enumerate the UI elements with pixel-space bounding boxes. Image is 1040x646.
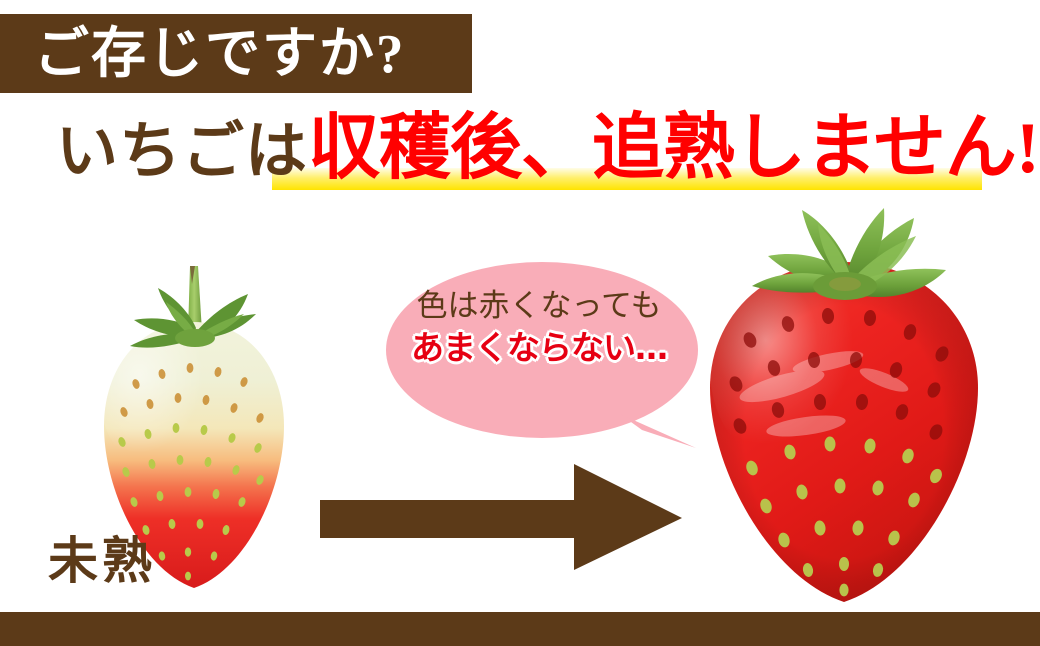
right-arrow-icon	[318, 462, 684, 572]
header-banner: ご存じですか?	[0, 14, 472, 93]
speech-bubble-line-1: 色は赤くなっても	[384, 288, 694, 324]
header-banner-label: ご存じですか?	[34, 26, 406, 81]
headline-emphasis-text: 収穫後、追熟しません!	[308, 112, 1039, 184]
speech-bubble-line-2: あまくならない…	[384, 328, 694, 368]
headline-lead-text: いちごは	[56, 121, 308, 183]
speech-bubble-text: 色は赤くなっても あまくならない…	[384, 288, 694, 367]
speech-bubble: 色は赤くなっても あまくならない…	[384, 258, 714, 453]
footer-bar	[0, 612, 1040, 646]
ripe-strawberry-image	[678, 190, 1010, 610]
headline: いちごは 収穫後、追熟しません!	[56, 112, 1016, 198]
poster-canvas: ご存じですか? いちごは 収穫後、追熟しません!	[0, 0, 1040, 646]
unripe-label: 未熟	[48, 536, 156, 586]
